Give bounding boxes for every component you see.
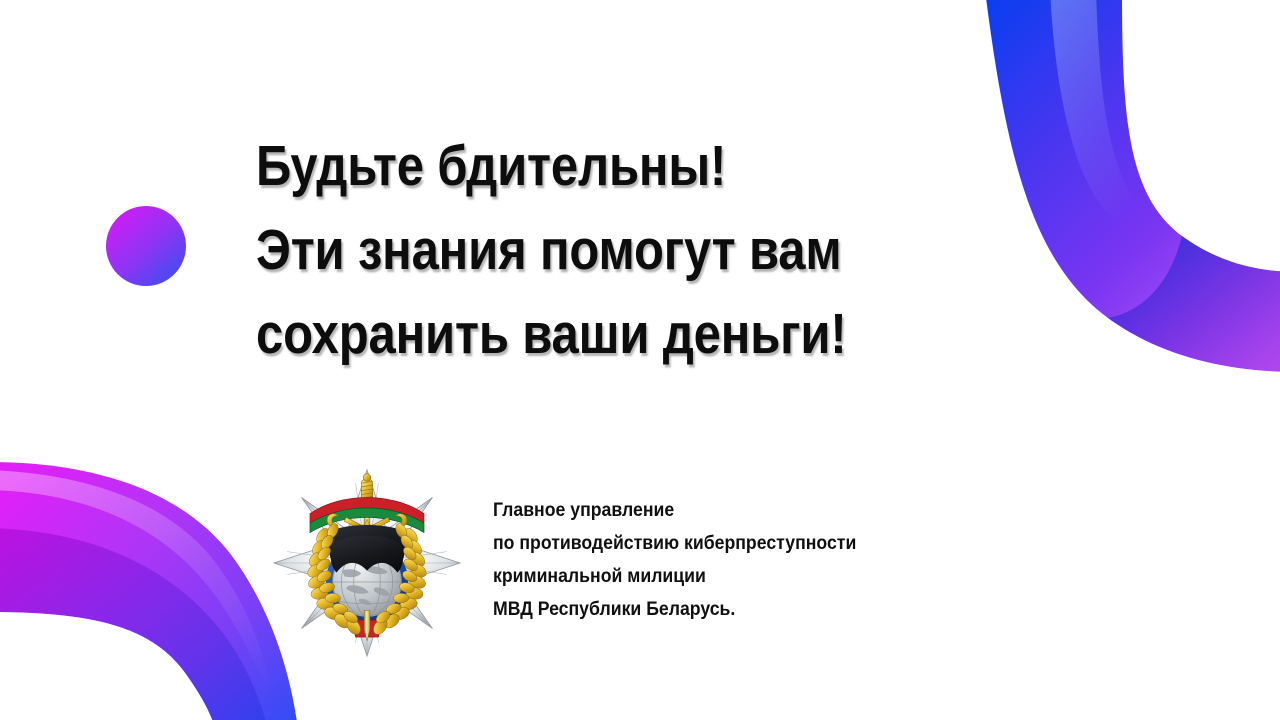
headline-line-1: Будьте бдительны! <box>256 124 875 208</box>
mvd-belarus-emblem <box>272 468 462 658</box>
org-line-1: Главное управление <box>493 494 856 527</box>
gradient-ribbon-bottom-left <box>0 462 300 720</box>
gradient-ribbon-top-right <box>985 0 1280 372</box>
gradient-circle <box>106 206 186 286</box>
slide-canvas: Будьте бдительны! Эти знания помогут вам… <box>0 0 1280 720</box>
footer-block: Главное управление по противодействию ки… <box>272 468 884 658</box>
org-line-3: криминальной милиции <box>493 560 856 593</box>
org-line-4: МВД Республики Беларусь. <box>493 593 856 626</box>
headline: Будьте бдительны! Эти знания помогут вам… <box>256 124 976 376</box>
headline-line-3: сохранить ваши деньги! <box>256 292 875 376</box>
organization-text: Главное управление по противодействию ки… <box>493 468 884 626</box>
shield-overlay <box>331 535 403 572</box>
headline-line-2: Эти знания помогут вам <box>256 208 875 292</box>
emblem-svg <box>272 468 462 658</box>
org-line-2: по противодействию киберпреступности <box>493 527 856 560</box>
